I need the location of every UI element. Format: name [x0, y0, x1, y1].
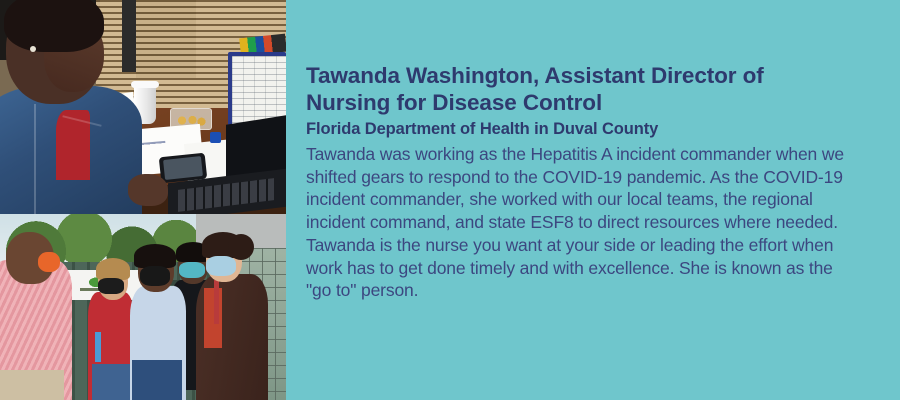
person-pink-mask	[38, 252, 60, 272]
smartphone	[159, 153, 207, 184]
woman-hair	[4, 0, 104, 52]
woman-at-desk-photo	[0, 0, 286, 214]
person-pink-pants	[0, 370, 64, 400]
jacket-seam	[34, 104, 36, 214]
person-blue-mask	[140, 266, 170, 286]
window-frame	[122, 0, 136, 72]
person-brown-inner-top	[204, 288, 222, 348]
earring	[30, 46, 36, 52]
organization-label: Florida Department of Health in Duval Co…	[306, 120, 858, 139]
cup-lid	[131, 81, 159, 88]
woman-hand	[128, 174, 168, 206]
person-blue-jeans	[132, 360, 182, 400]
window-blinds-secondary	[136, 0, 196, 78]
person-red-hair	[96, 258, 130, 280]
person-red-jeans	[92, 364, 132, 400]
text-column: Tawanda Washington, Assistant Director o…	[286, 0, 900, 400]
blue-cap-object	[210, 132, 221, 143]
person-black-mask	[179, 262, 205, 278]
profile-body-text: Tawanda was working as the Hepatitis A i…	[306, 143, 858, 302]
monitor-screen-spreadsheet	[232, 56, 286, 124]
person-brown-mask	[206, 256, 236, 276]
person-red-mask	[98, 278, 124, 294]
profile-card: me	[0, 0, 900, 400]
page-title: Tawanda Washington, Assistant Director o…	[306, 62, 826, 117]
person-blue-hair	[134, 244, 176, 268]
person-red-lanyard	[95, 332, 101, 362]
photo-column: me	[0, 0, 286, 400]
group-outdoors-photo: me	[0, 214, 286, 400]
person-brown-lanyard	[214, 280, 219, 324]
person-brown-hair-bun	[228, 234, 254, 260]
